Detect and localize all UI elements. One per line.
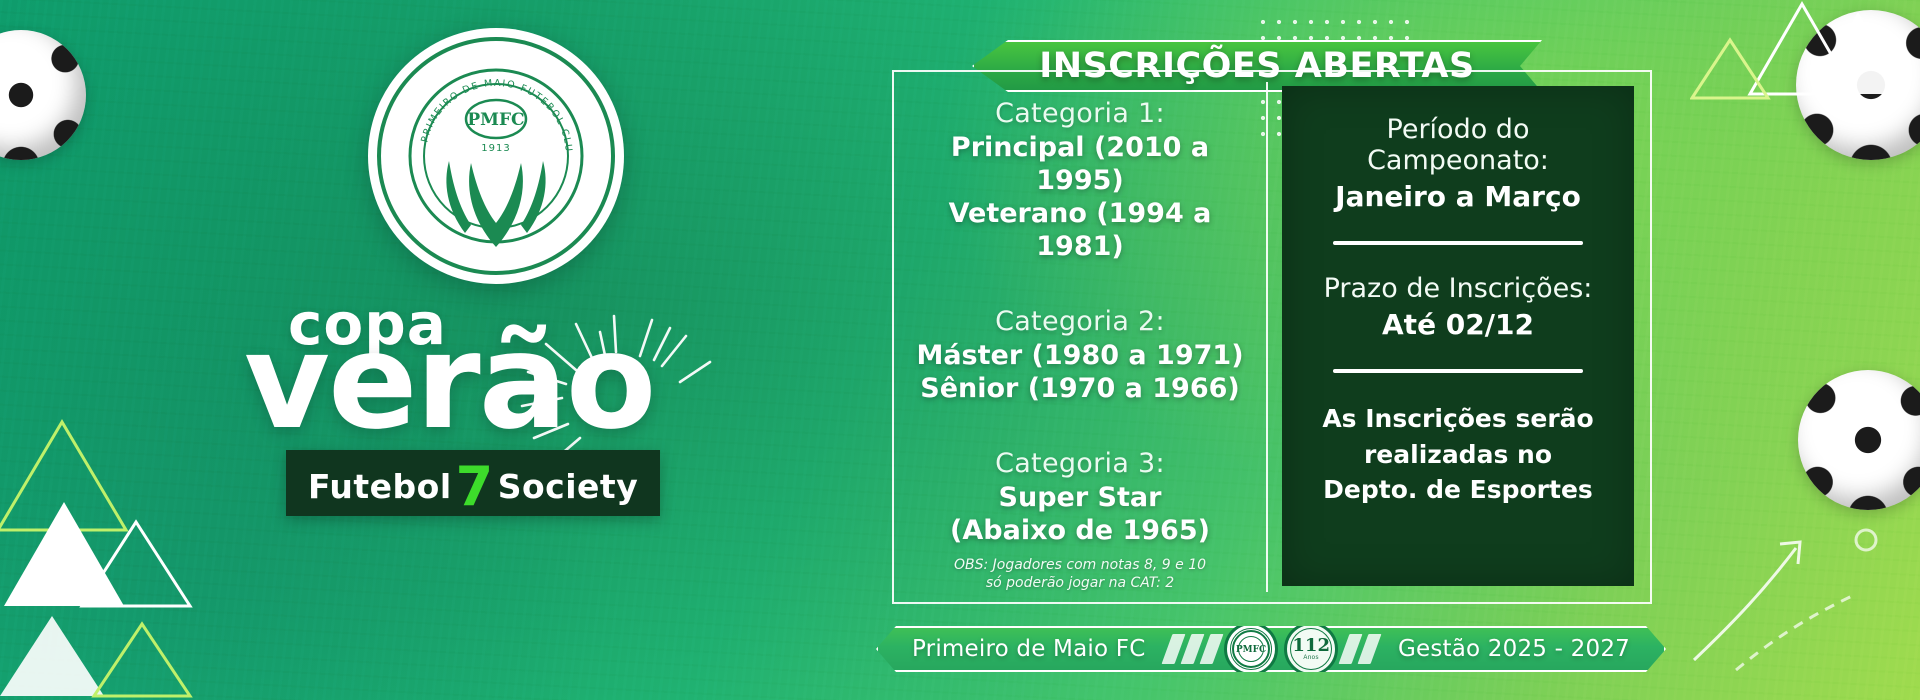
category-block-1: Categoria 1: Principal (2010 a 1995) Vet…: [910, 98, 1250, 264]
copa-verao-banner: PRIMEIRO DE MAIO FUTEBOL CLUBE PMFC 1913: [0, 0, 1920, 700]
footer-club-name: Primeiro de Maio FC: [912, 636, 1145, 662]
event-wordmark: copa verão: [236, 290, 756, 470]
category-line: Super Star: [910, 482, 1250, 515]
society-number: 7: [456, 465, 494, 508]
category-line: Máster (1980 a 1971): [910, 340, 1250, 373]
slash-decoration: [1167, 634, 1218, 664]
observation-line-2: só poderão jogar na CAT: 2: [910, 574, 1250, 593]
brand-block: PRIMEIRO DE MAIO FUTEBOL CLUBE PMFC 1913: [236, 28, 756, 470]
category-title: Categoria 3:: [910, 448, 1250, 479]
details-panel: Período do Campeonato: Janeiro a Março P…: [1282, 86, 1634, 586]
triangle-decoration: [0, 410, 210, 700]
categories-column: Categoria 1: Principal (2010 a 1995) Vet…: [894, 72, 1266, 602]
club-crest: PRIMEIRO DE MAIO FUTEBOL CLUBE PMFC 1913: [236, 28, 756, 284]
anniversary-seal-icon: 112 Anos: [1284, 622, 1338, 676]
footer-management: Gestão 2025 - 2027: [1398, 636, 1630, 662]
period-label: Período do Campeonato:: [1300, 114, 1616, 176]
society-right: Society: [498, 467, 638, 506]
category-line: Principal (2010 a 1995): [910, 132, 1250, 198]
slash-decoration: [1344, 634, 1376, 664]
footer-seals: PMFC 112 Anos: [1167, 622, 1376, 676]
note-line-1: As Inscrições serão: [1322, 401, 1593, 437]
info-card: Categoria 1: Principal (2010 a 1995) Vet…: [892, 70, 1652, 604]
category-block-2: Categoria 2: Máster (1980 a 1971) Sênior…: [910, 306, 1250, 406]
footer-bar: Primeiro de Maio FC PMFC 112 Anos: [876, 626, 1666, 672]
card-column-divider: [1266, 82, 1268, 592]
subtitle-futebol-7-society: Futebol 7 Society: [286, 450, 660, 516]
period-value: Janeiro a Março: [1300, 180, 1616, 213]
deadline-label: Prazo de Inscrições:: [1300, 273, 1616, 304]
svg-text:1913: 1913: [481, 143, 510, 154]
chalk-arrow-decoration: [1676, 500, 1896, 680]
category-line: (Abaixo de 1965): [910, 515, 1250, 548]
observation-line-1: OBS: Jogadores com notas 8, 9 e 10: [910, 556, 1250, 575]
svg-text:PMFC: PMFC: [467, 110, 524, 130]
category-line: Veterano (1994 a 1981): [910, 198, 1250, 264]
note-line-3: Depto. de Esportes: [1322, 472, 1593, 508]
society-left: Futebol: [308, 467, 452, 506]
crest-emblem-icon: PRIMEIRO DE MAIO FUTEBOL CLUBE PMFC 1913: [391, 51, 601, 261]
period-block: Período do Campeonato: Janeiro a Março: [1300, 114, 1616, 213]
category-observation: OBS: Jogadores com notas 8, 9 e 10 só po…: [910, 556, 1250, 594]
category-line: Sênior (1970 a 1966): [910, 373, 1250, 406]
triangle-decoration: [1690, 0, 1920, 104]
details-separator: [1333, 241, 1583, 245]
category-title: Categoria 1:: [910, 98, 1250, 129]
category-block-3: Categoria 3: Super Star (Abaixo de 1965)…: [910, 448, 1250, 594]
registration-note: As Inscrições serão realizadas no Depto.…: [1322, 401, 1593, 508]
club-seal-icon: PMFC: [1224, 622, 1278, 676]
category-title: Categoria 2:: [910, 306, 1250, 337]
deadline-block: Prazo de Inscrições: Até 02/12: [1300, 273, 1616, 341]
details-separator: [1333, 369, 1583, 373]
note-line-2: realizadas no: [1322, 437, 1593, 473]
deadline-value: Até 02/12: [1300, 308, 1616, 341]
